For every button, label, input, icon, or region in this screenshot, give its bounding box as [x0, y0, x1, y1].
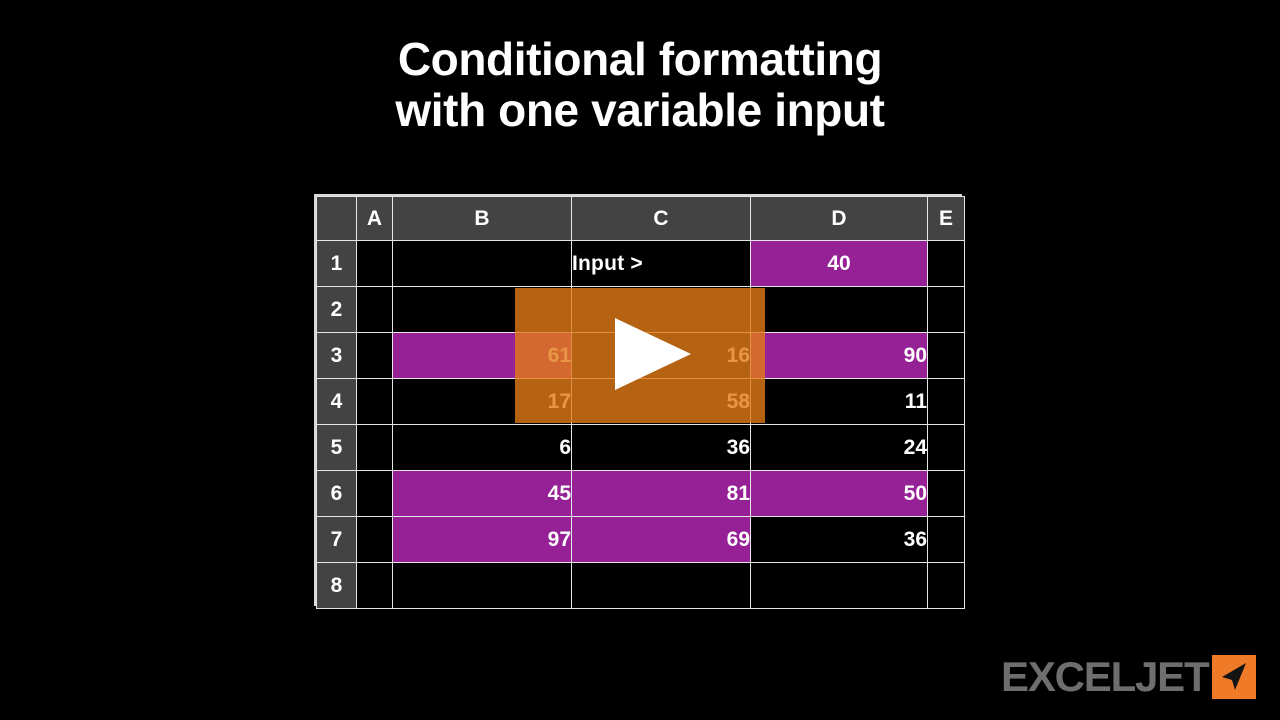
row-header-3[interactable]: 3 — [317, 333, 357, 379]
table-row: 1 Input > 40 — [317, 241, 965, 287]
cell-c6[interactable]: 81 — [572, 471, 751, 517]
cell-d3[interactable]: 90 — [751, 333, 928, 379]
cell-c8[interactable] — [572, 563, 751, 609]
cell-e7[interactable] — [928, 517, 965, 563]
cell-b7[interactable]: 97 — [393, 517, 572, 563]
column-header-e[interactable]: E — [928, 197, 965, 241]
select-all-corner[interactable] — [317, 197, 357, 241]
column-header-d[interactable]: D — [751, 197, 928, 241]
row-header-6[interactable]: 6 — [317, 471, 357, 517]
cell-a7[interactable] — [357, 517, 393, 563]
play-triangle-icon[interactable] — [615, 318, 691, 390]
page-title-line-1: Conditional formatting — [0, 34, 1280, 85]
column-header-b[interactable]: B — [393, 197, 572, 241]
cell-b1[interactable] — [393, 241, 572, 287]
cell-a3[interactable] — [357, 333, 393, 379]
cell-e8[interactable] — [928, 563, 965, 609]
row-header-7[interactable]: 7 — [317, 517, 357, 563]
column-header-a[interactable]: A — [357, 197, 393, 241]
cell-c5[interactable]: 36 — [572, 425, 751, 471]
row-header-8[interactable]: 8 — [317, 563, 357, 609]
cell-d2[interactable] — [751, 287, 928, 333]
table-row: 7 97 69 36 — [317, 517, 965, 563]
exceljet-logo: EXCELJET — [1001, 654, 1256, 700]
table-row: 6 45 81 50 — [317, 471, 965, 517]
row-header-5[interactable]: 5 — [317, 425, 357, 471]
paper-plane-icon — [1212, 655, 1256, 699]
cell-b8[interactable] — [393, 563, 572, 609]
table-row: 8 — [317, 563, 965, 609]
cell-c7[interactable]: 69 — [572, 517, 751, 563]
cell-d4[interactable]: 11 — [751, 379, 928, 425]
cell-a8[interactable] — [357, 563, 393, 609]
cell-a5[interactable] — [357, 425, 393, 471]
column-header-row: A B C D E — [317, 197, 965, 241]
cell-d8[interactable] — [751, 563, 928, 609]
cell-e5[interactable] — [928, 425, 965, 471]
row-header-1[interactable]: 1 — [317, 241, 357, 287]
cell-b5[interactable]: 6 — [393, 425, 572, 471]
cell-e2[interactable] — [928, 287, 965, 333]
cell-e1[interactable] — [928, 241, 965, 287]
cell-e3[interactable] — [928, 333, 965, 379]
row-header-2[interactable]: 2 — [317, 287, 357, 333]
table-row: 5 6 36 24 — [317, 425, 965, 471]
page-title: Conditional formatting with one variable… — [0, 34, 1280, 136]
cell-a4[interactable] — [357, 379, 393, 425]
cell-a2[interactable] — [357, 287, 393, 333]
cell-d7[interactable]: 36 — [751, 517, 928, 563]
cell-d5[interactable]: 24 — [751, 425, 928, 471]
cell-d6[interactable]: 50 — [751, 471, 928, 517]
cell-a6[interactable] — [357, 471, 393, 517]
cell-e6[interactable] — [928, 471, 965, 517]
cell-d1-input-value[interactable]: 40 — [751, 241, 928, 287]
cell-c1-input-label[interactable]: Input > — [572, 241, 751, 287]
exceljet-wordmark: EXCELJET — [1001, 656, 1208, 698]
cell-e4[interactable] — [928, 379, 965, 425]
column-header-c[interactable]: C — [572, 197, 751, 241]
page-title-line-2: with one variable input — [0, 85, 1280, 136]
cell-b6[interactable]: 45 — [393, 471, 572, 517]
cell-a1[interactable] — [357, 241, 393, 287]
row-header-4[interactable]: 4 — [317, 379, 357, 425]
